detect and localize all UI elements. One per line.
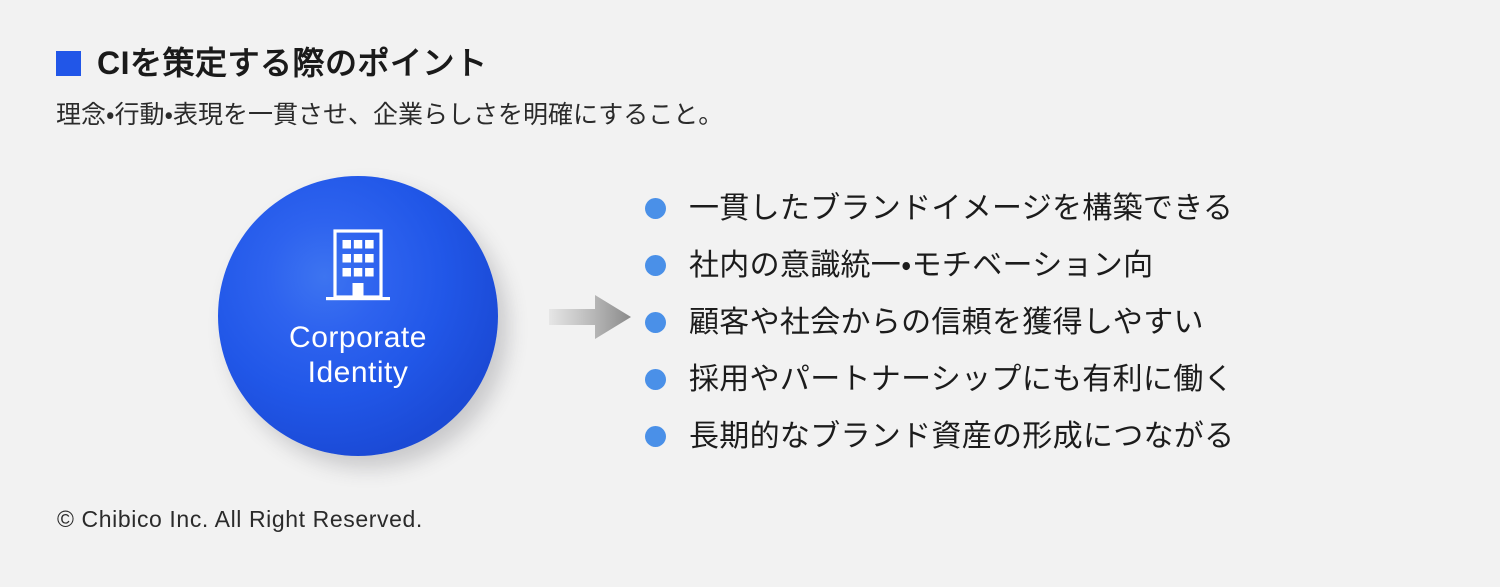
- list-item: 一貫したブランドイメージを構築できる: [645, 180, 1465, 237]
- list-item-label: 採用やパートナーシップにも有利に働く: [689, 363, 1234, 396]
- benefit-list: 一貫したブランドイメージを構築できる 社内の意識統一・モチベーション向 顧客や社…: [645, 180, 1465, 465]
- list-item: 長期的なブランド資産の形成につながる: [645, 408, 1465, 465]
- list-item-label: 一貫したブランドイメージを構築できる: [689, 192, 1233, 225]
- blue-dot-bullet-icon: [645, 312, 666, 333]
- list-item-label: 社内の意識統一・モチベーション向: [689, 249, 1153, 282]
- right-arrow-icon: [549, 292, 631, 342]
- slide-canvas: CIを策定する際のポイント 理念・行動・表現を一貫させ、企業らしさを明確にするこ…: [0, 0, 1500, 587]
- page-title: CIを策定する際のポイント: [97, 47, 488, 79]
- list-item: 採用やパートナーシップにも有利に働く: [645, 351, 1465, 408]
- blue-dot-bullet-icon: [645, 255, 666, 276]
- page-title-row: CIを策定する際のポイント: [56, 42, 1356, 84]
- circle-label-line2: Identity: [289, 355, 427, 390]
- list-item: 社内の意識統一・モチベーション向: [645, 237, 1465, 294]
- page-subtitle: 理念・行動・表現を一貫させ、企業らしさを明確にすること。: [56, 100, 1356, 130]
- blue-square-marker-icon: [56, 51, 81, 76]
- list-item-label: 長期的なブランド資産の形成につながる: [689, 420, 1234, 453]
- circle-label-line1: Corporate: [289, 320, 427, 355]
- circle-fill: Corporate Identity: [218, 176, 498, 456]
- corporate-identity-circle: Corporate Identity: [218, 176, 498, 456]
- circle-label: Corporate Identity: [289, 320, 427, 391]
- header-block: CIを策定する際のポイント 理念・行動・表現を一貫させ、企業らしさを明確にするこ…: [56, 42, 1356, 130]
- copyright-notice: © Chibico Inc. All Right Reserved.: [57, 506, 423, 533]
- blue-dot-bullet-icon: [645, 369, 666, 390]
- office-building-icon: [322, 228, 394, 304]
- blue-dot-bullet-icon: [645, 426, 666, 447]
- list-item-label: 顧客や社会からの信頼を獲得しやすい: [689, 306, 1204, 339]
- list-item: 顧客や社会からの信頼を獲得しやすい: [645, 294, 1465, 351]
- blue-dot-bullet-icon: [645, 198, 666, 219]
